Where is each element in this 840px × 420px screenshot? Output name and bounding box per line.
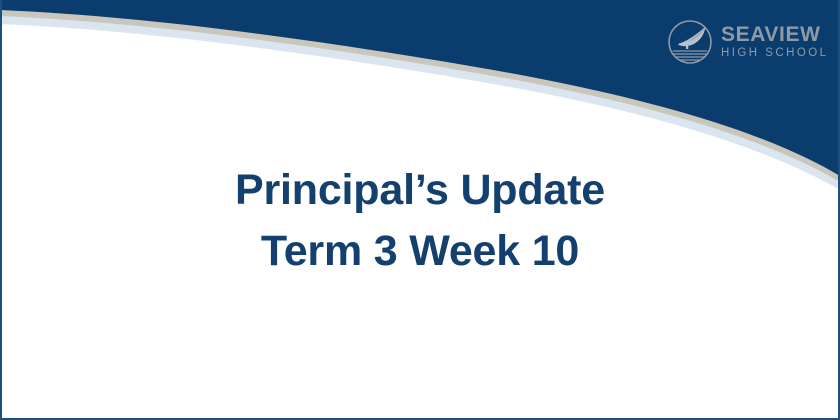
school-logo-wordmark: SEAVIEW HIGH SCHOOL [721, 24, 828, 60]
slide-title-line-1: Principal’s Update [2, 160, 838, 221]
seagull-circle-logo-icon [666, 18, 714, 66]
slide-title-block: Principal’s Update Term 3 Week 10 [2, 160, 838, 282]
slide-title-line-2: Term 3 Week 10 [2, 221, 838, 282]
presentation-slide: SEAVIEW HIGH SCHOOL Principal’s Update T… [0, 0, 840, 420]
school-logo: SEAVIEW HIGH SCHOOL [666, 18, 828, 66]
school-name: SEAVIEW [721, 24, 828, 45]
school-tagline: HIGH SCHOOL [721, 48, 828, 60]
